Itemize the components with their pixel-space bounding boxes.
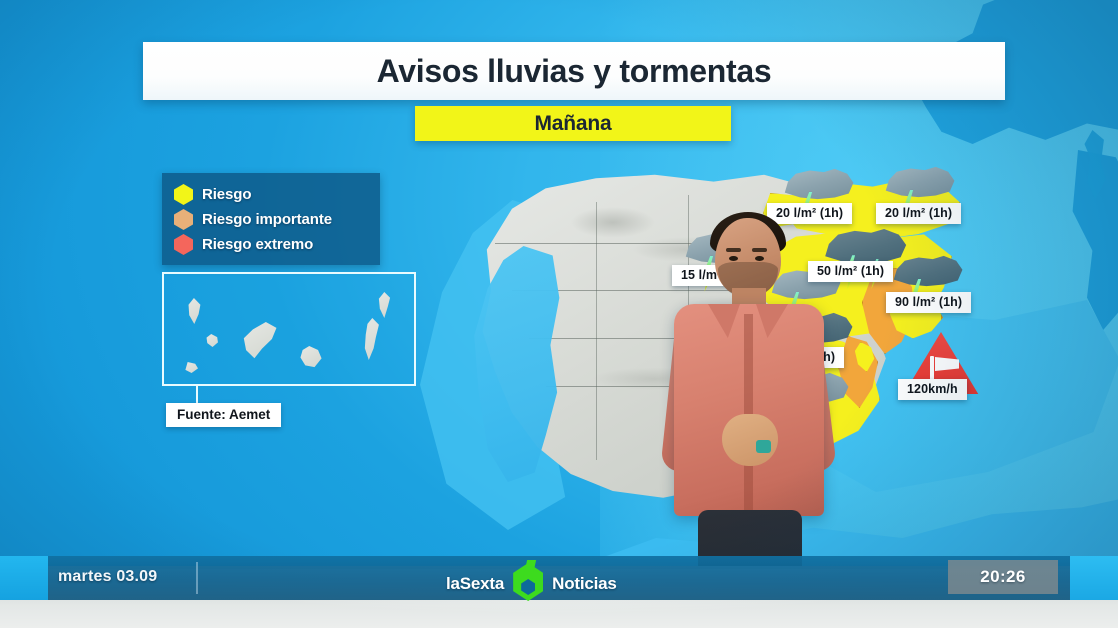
alert-label-baleares: 90 l/m² (1h) [886,292,971,313]
island-gran-canaria [300,346,322,368]
subtitle-banner: Mañana [415,106,731,141]
headline-banner: Avisos lluvias y tormentas [143,42,1005,100]
island-la-gomera [206,334,219,347]
chyron-right-accent [1070,556,1118,600]
wind-speed-label: 120km/h [898,379,967,400]
chyron-left-accent [0,556,48,600]
source-connector [196,386,198,404]
channel-name: laSexta [446,574,504,594]
legend-item-riesgo: Riesgo [174,182,370,207]
hexagon-marker-orange-icon [174,209,193,230]
chyron-divider [196,562,198,594]
legend-label: Riesgo [202,186,251,203]
broadcast-date: martes 03.09 [58,568,157,586]
island-el-hierro [184,362,198,373]
island-la-palma [186,298,204,324]
clock-time: 20:26 [980,567,1025,587]
hexagon-marker-red-icon [174,234,193,255]
program-name: Noticias [552,574,617,594]
legend-label: Riesgo extremo [202,236,313,253]
island-lanzarote [376,292,392,318]
channel-branding: laSexta Noticias [446,566,617,601]
lasexta-six-hexagon-logo-icon [513,563,543,601]
hexagon-marker-yellow-icon [174,184,193,205]
presenter-wristwatch [756,440,771,453]
island-tenerife [240,322,278,359]
legend-item-riesgo-importante: Riesgo importante [174,207,370,232]
risk-legend: Riesgo Riesgo importante Riesgo extremo [162,173,380,265]
forecast-day-label: Mañana [535,112,612,136]
data-source-label: Fuente: Aemet [166,403,281,427]
island-fuerteventura [360,318,382,360]
legend-item-riesgo-extremo: Riesgo extremo [174,232,370,257]
legend-label: Riesgo importante [202,211,332,228]
cloud-shape [886,255,964,296]
cloud-shape [878,166,956,207]
broadcast-clock: 20:26 [948,560,1058,594]
alert-label-pirineos: 20 l/m² (1h) [876,203,961,224]
canarias-inset [162,272,416,386]
broadcast-screen: 15 l/m² 20 l/m² (1h) 20 l/m² (1h) 50 l/m… [0,0,1118,628]
page-title: Avisos lluvias y tormentas [377,53,772,90]
